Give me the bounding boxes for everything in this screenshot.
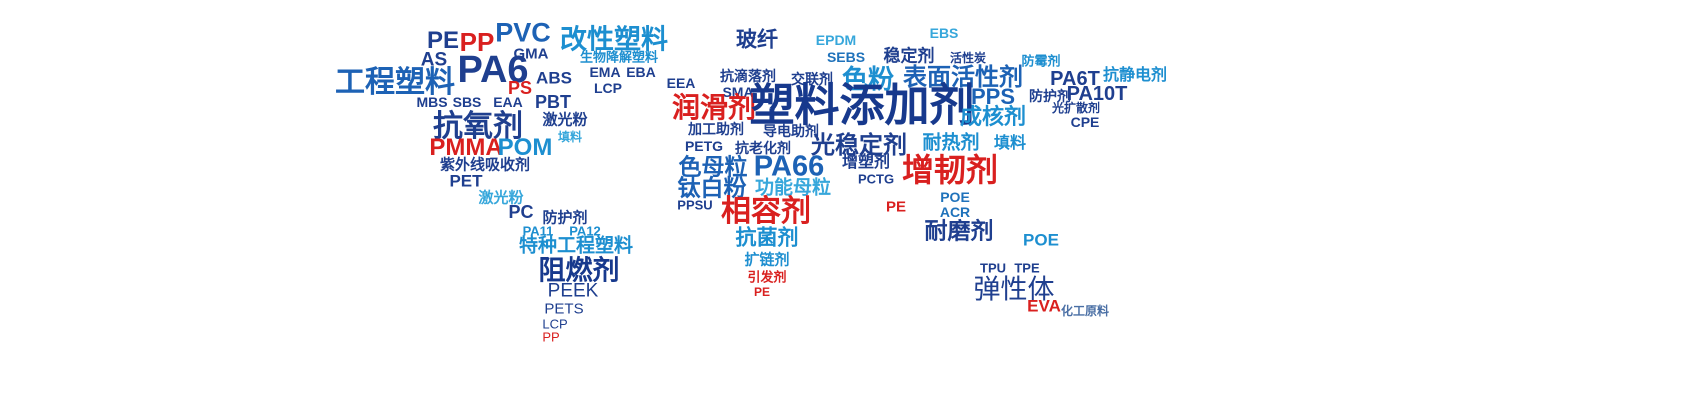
cloud-word[interactable]: 加工助剂 (688, 122, 744, 136)
word-cloud-canvas: PEPPPVCGMA改性塑料玻纤EPDMEBSASPA6ABS生物降解塑料EMA… (0, 0, 1707, 400)
cloud-word[interactable]: EBS (930, 26, 959, 40)
cloud-word[interactable]: 防霉剂 (1021, 55, 1060, 68)
cloud-word[interactable]: SEBS (827, 50, 865, 64)
cloud-word[interactable]: 特种工程塑料 (519, 237, 633, 256)
cloud-word[interactable]: PEEK (548, 282, 599, 301)
cloud-word[interactable]: PETG (685, 139, 723, 153)
cloud-word[interactable]: PPSU (677, 199, 712, 212)
cloud-word[interactable]: 抗静电剂 (1103, 68, 1167, 84)
cloud-word[interactable]: 增塑剂 (842, 155, 890, 171)
cloud-word[interactable]: 引发剂 (747, 271, 786, 284)
cloud-word[interactable]: PCTG (858, 173, 894, 186)
cloud-word[interactable]: 润滑剂 (672, 94, 756, 122)
cloud-word[interactable]: 光扩散剂 (1052, 102, 1100, 114)
cloud-word[interactable]: TPE (1014, 262, 1039, 275)
cloud-word[interactable]: LCP (594, 81, 622, 95)
cloud-word[interactable]: POE (1023, 232, 1059, 249)
cloud-word[interactable]: TPU (980, 262, 1006, 275)
cloud-word[interactable]: PS (508, 79, 532, 97)
cloud-word[interactable]: PE (754, 286, 770, 298)
cloud-word[interactable]: EPDM (816, 33, 856, 47)
cloud-word[interactable]: 相容剂 (721, 197, 811, 227)
cloud-word[interactable]: EEA (667, 76, 696, 90)
cloud-word[interactable]: 激光粉 (542, 113, 587, 128)
cloud-word[interactable]: EMA (589, 65, 620, 79)
cloud-word[interactable]: 紫外线吸收剂 (440, 158, 530, 173)
cloud-word[interactable]: 玻纤 (736, 30, 778, 51)
cloud-word[interactable]: SBS (453, 95, 482, 109)
cloud-word[interactable]: PETS (544, 302, 583, 317)
cloud-word[interactable]: 耐热剂 (922, 134, 979, 153)
cloud-word[interactable]: PVC (495, 20, 551, 47)
cloud-word[interactable]: PET (449, 173, 482, 190)
cloud-word[interactable]: 工程塑料 (335, 68, 455, 98)
cloud-word[interactable]: CPE (1071, 115, 1100, 129)
cloud-word[interactable]: EVA (1027, 298, 1061, 315)
cloud-word[interactable]: PBT (535, 93, 571, 111)
cloud-word[interactable]: 活性炭 (950, 52, 986, 64)
cloud-word[interactable]: ABS (536, 70, 572, 87)
cloud-word[interactable]: 化工原料 (1061, 305, 1109, 317)
cloud-word[interactable]: 抗菌剂 (736, 228, 799, 249)
cloud-word[interactable]: 耐磨剂 (925, 220, 994, 243)
cloud-word[interactable]: 稳定剂 (884, 48, 935, 65)
cloud-word[interactable]: 成核剂 (960, 106, 1026, 128)
cloud-word[interactable]: 扩链剂 (744, 253, 789, 268)
cloud-word[interactable]: 填料 (558, 131, 582, 143)
cloud-word[interactable]: PC (508, 203, 533, 221)
cloud-word[interactable]: PE (886, 200, 906, 215)
cloud-word[interactable]: PP (542, 331, 559, 344)
cloud-word[interactable]: 增韧剂 (902, 154, 998, 186)
cloud-word[interactable]: POE (940, 190, 970, 204)
cloud-word[interactable]: 填料 (994, 136, 1026, 152)
cloud-word[interactable]: 生物降解塑料 (580, 51, 658, 64)
cloud-word[interactable]: EBA (626, 65, 656, 79)
cloud-word[interactable]: 塑料添加剂 (749, 83, 974, 128)
